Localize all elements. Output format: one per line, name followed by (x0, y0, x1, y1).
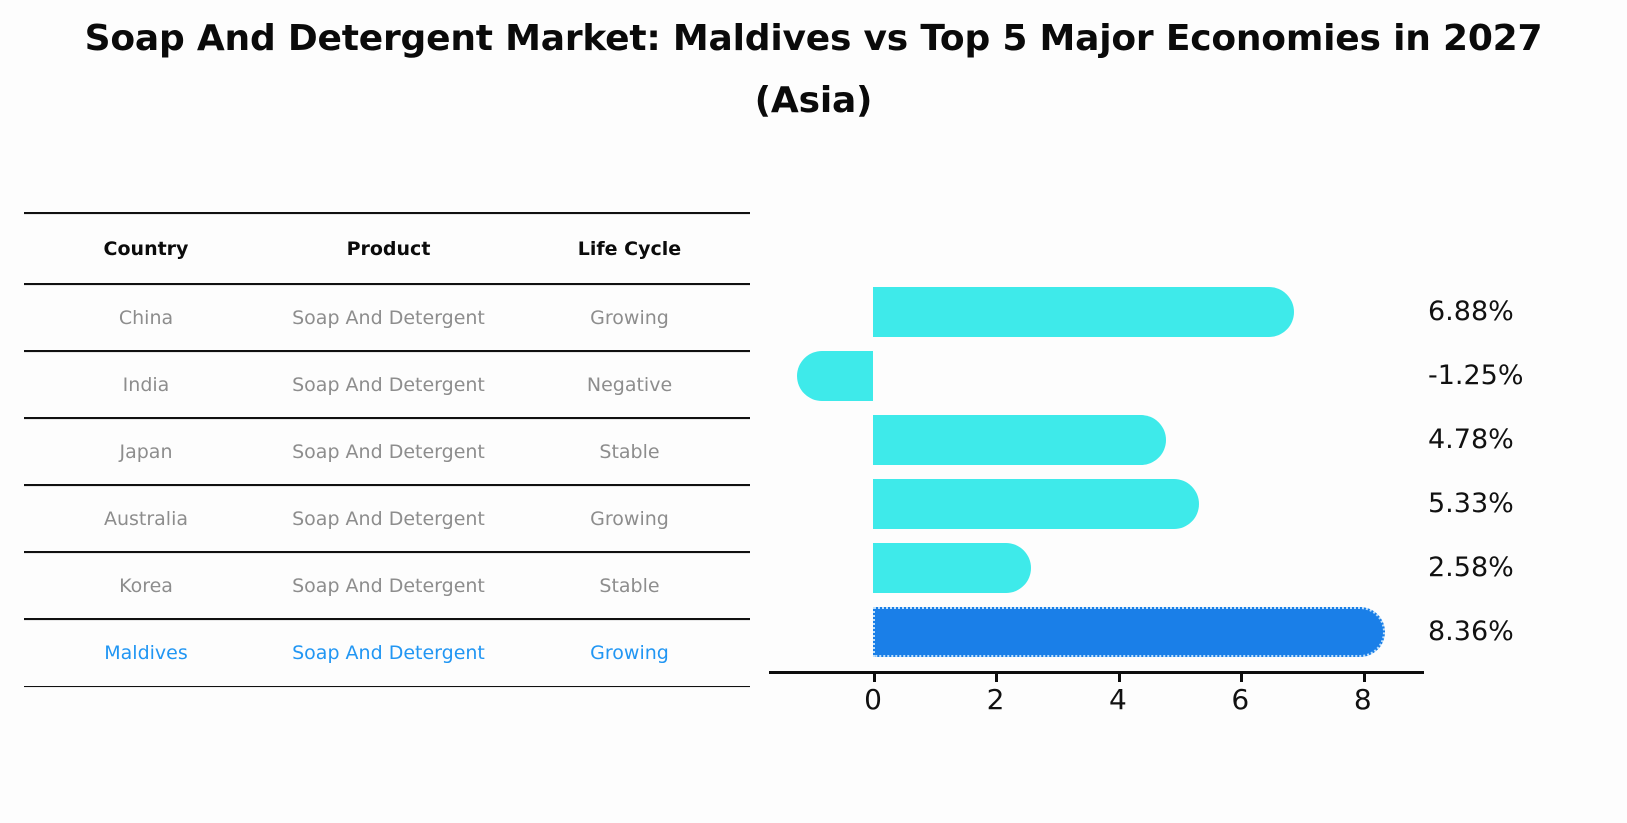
bar-india[interactable] (797, 351, 874, 401)
bar-value-label: 8.36% (1428, 600, 1514, 664)
country-cell: India (24, 353, 268, 417)
column-header-life-cycle: Life Cycle (509, 215, 750, 283)
table-row: MaldivesSoap And DetergentGrowing (24, 621, 750, 685)
table-rule (24, 685, 750, 688)
bar-row: 4.78% (766, 408, 1627, 472)
product-cell: Soap And Detergent (268, 353, 509, 417)
x-tick (873, 671, 876, 682)
x-tick-label: 0 (864, 683, 882, 716)
table-header-row: CountryProductLife Cycle (24, 215, 750, 283)
x-tick (1118, 671, 1121, 682)
table-rule-line (24, 686, 750, 688)
x-tick-label: 2 (987, 683, 1005, 716)
country-cell: Maldives (24, 621, 268, 685)
column-header-product: Product (268, 215, 509, 283)
x-tick-label: 8 (1354, 683, 1372, 716)
country-cell: Japan (24, 420, 268, 484)
x-tick-label: 4 (1109, 683, 1127, 716)
bar-value-label: 6.88% (1428, 280, 1514, 344)
country-cell: Australia (24, 487, 268, 551)
bar-row: -1.25% (766, 344, 1627, 408)
life-cycle-cell: Stable (509, 420, 750, 484)
country-info-table: CountryProductLife CycleChinaSoap And De… (24, 212, 750, 688)
bar-chart: 6.88%-1.25%4.78%5.33%2.58%8.36% 02468 (766, 180, 1627, 740)
bar-row: 8.36% (766, 600, 1627, 664)
life-cycle-cell: Stable (509, 554, 750, 618)
table: CountryProductLife CycleChinaSoap And De… (24, 212, 750, 688)
bar-japan[interactable] (873, 415, 1166, 465)
bar-value-label: 4.78% (1428, 408, 1514, 472)
bar-australia[interactable] (873, 479, 1199, 529)
life-cycle-cell: Growing (509, 286, 750, 350)
product-cell: Soap And Detergent (268, 487, 509, 551)
x-tick (995, 671, 998, 682)
page-title-line-1: Soap And Detergent Market: Maldives vs T… (85, 18, 1543, 59)
column-header-country: Country (24, 215, 268, 283)
x-axis-line (769, 671, 1424, 674)
life-cycle-cell: Growing (509, 621, 750, 685)
life-cycle-cell: Negative (509, 353, 750, 417)
x-tick (1240, 671, 1243, 682)
bar-value-label: -1.25% (1428, 344, 1524, 408)
table-rule-cell (24, 685, 750, 688)
bar-value-label: 2.58% (1428, 536, 1514, 600)
bar-korea[interactable] (873, 543, 1031, 593)
table-row: AustraliaSoap And DetergentGrowing (24, 487, 750, 551)
bar-china[interactable] (873, 287, 1294, 337)
bar-row: 2.58% (766, 536, 1627, 600)
bar-maldives[interactable] (873, 607, 1385, 657)
product-cell: Soap And Detergent (268, 286, 509, 350)
product-cell: Soap And Detergent (268, 554, 509, 618)
table-row: IndiaSoap And DetergentNegative (24, 353, 750, 417)
country-cell: China (24, 286, 268, 350)
country-cell: Korea (24, 554, 268, 618)
product-cell: Soap And Detergent (268, 621, 509, 685)
bar-row: 5.33% (766, 472, 1627, 536)
life-cycle-cell: Growing (509, 487, 750, 551)
table-row: JapanSoap And DetergentStable (24, 420, 750, 484)
plot-area: 6.88%-1.25%4.78%5.33%2.58%8.36% (766, 180, 1627, 680)
product-cell: Soap And Detergent (268, 420, 509, 484)
page-title: Soap And Detergent Market: Maldives vs T… (0, 8, 1627, 132)
table-row: ChinaSoap And DetergentGrowing (24, 286, 750, 350)
x-tick (1363, 671, 1366, 682)
bar-row: 6.88% (766, 280, 1627, 344)
x-tick-label: 6 (1231, 683, 1249, 716)
bar-value-label: 5.33% (1428, 472, 1514, 536)
page-title-line-2: (Asia) (0, 70, 1627, 132)
table-row: KoreaSoap And DetergentStable (24, 554, 750, 618)
